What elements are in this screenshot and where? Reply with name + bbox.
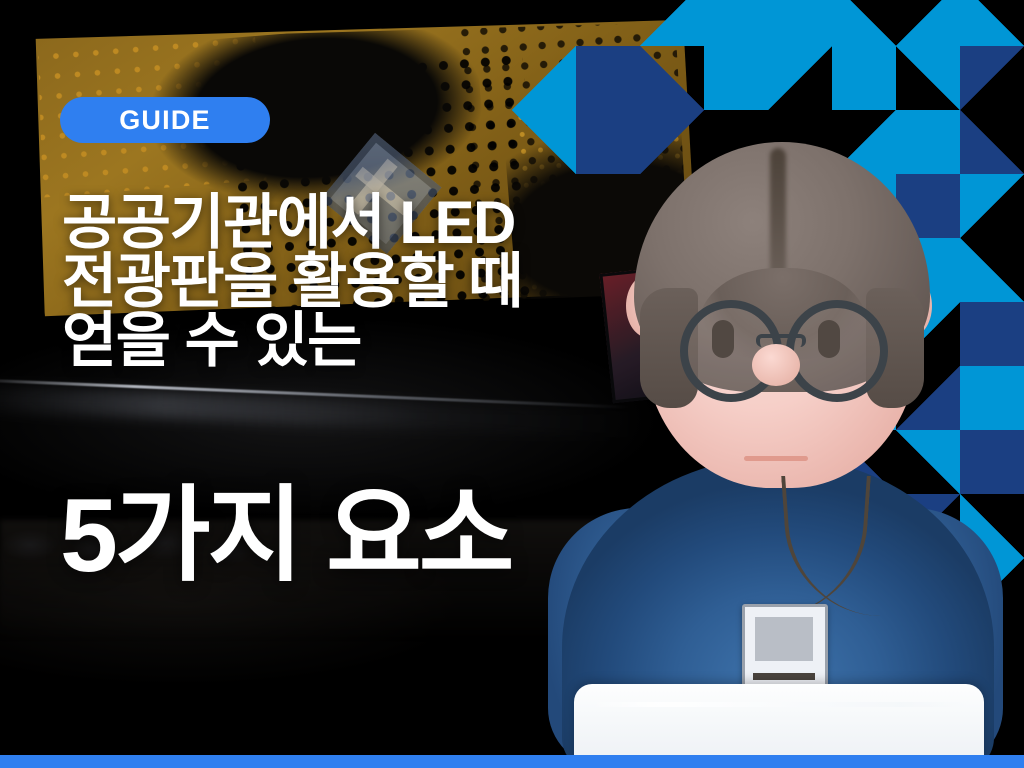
headline-block: 공공기관에서 LED 전광판을 활용할 때 얻을 수 있는 <box>62 194 702 370</box>
mouth <box>744 456 808 461</box>
headline-line-2: 전광판을 활용할 때 <box>62 253 702 312</box>
nose <box>752 344 800 386</box>
glasses-lens-right-icon <box>786 300 888 402</box>
headline-line-3: 얻을 수 있는 <box>62 312 702 371</box>
bottom-accent-bar <box>0 755 1024 768</box>
guide-badge-label: GUIDE <box>119 105 211 136</box>
id-badge-photo <box>755 617 813 661</box>
headline-line-1: 공공기관에서 LED <box>62 194 702 253</box>
laptop-lid-edge <box>590 702 968 707</box>
guide-badge[interactable]: GUIDE <box>60 97 270 143</box>
id-badge-bar <box>753 673 815 680</box>
character-illustration <box>548 38 1018 768</box>
poster-canvas: GUIDE 공공기관에서 LED 전광판을 활용할 때 얻을 수 있는 5가지 … <box>0 0 1024 768</box>
emphasis-heading: 5가지 요소 <box>60 484 511 588</box>
